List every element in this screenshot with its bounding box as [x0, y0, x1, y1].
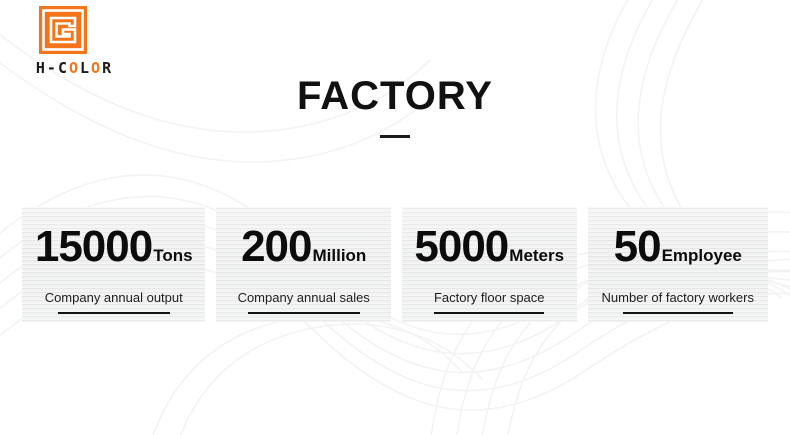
stat-card-annual-output: 15000 Tons Company annual output [22, 207, 205, 322]
wordmark-o-2: O [91, 59, 102, 77]
stat-underline-rule [248, 312, 360, 314]
section-header: FACTORY [0, 76, 790, 138]
stats-row: 15000 Tons Company annual output 200 Mil… [22, 207, 768, 322]
stat-unit: Million [312, 247, 366, 264]
stat-unit: Employee [662, 247, 742, 264]
stat-figure: 15000 Tons [35, 225, 193, 269]
stat-label: Company annual output [45, 290, 183, 305]
wordmark-part-2: L [80, 59, 91, 77]
stat-underline-rule [58, 312, 170, 314]
stat-figure: 200 Million [241, 225, 366, 269]
stat-number: 15000 [35, 225, 152, 269]
hcolor-g-square-logo-icon [39, 6, 87, 54]
stat-underline-rule [623, 312, 733, 314]
page-title: FACTORY [0, 76, 790, 116]
stat-label: Factory floor space [434, 290, 545, 305]
wordmark-part-3: R [102, 59, 113, 77]
stat-number: 200 [241, 225, 311, 269]
stat-unit: Tons [153, 247, 192, 264]
brand-wordmark: H-COLOR [22, 59, 127, 77]
wordmark-o-1: O [69, 59, 80, 77]
stat-figure: 5000 Meters [414, 225, 564, 269]
stat-number: 50 [614, 225, 661, 269]
stat-card-annual-sales: 200 Million Company annual sales [216, 207, 391, 322]
brand-logo[interactable]: H-COLOR [22, 6, 162, 77]
stat-card-workers: 50 Employee Number of factory workers [588, 207, 768, 322]
wordmark-part-1: H-C [36, 59, 69, 77]
stat-figure: 50 Employee [614, 225, 742, 269]
stat-number: 5000 [414, 225, 508, 269]
stat-label: Number of factory workers [602, 290, 754, 305]
factory-stats-page: H-COLOR FACTORY 15000 Tons Company annua… [0, 0, 790, 435]
stat-unit: Meters [509, 247, 564, 264]
stat-label: Company annual sales [238, 290, 370, 305]
stat-card-floor-space: 5000 Meters Factory floor space [402, 207, 577, 322]
title-underline-rule [380, 135, 410, 138]
stat-underline-rule [434, 312, 544, 314]
